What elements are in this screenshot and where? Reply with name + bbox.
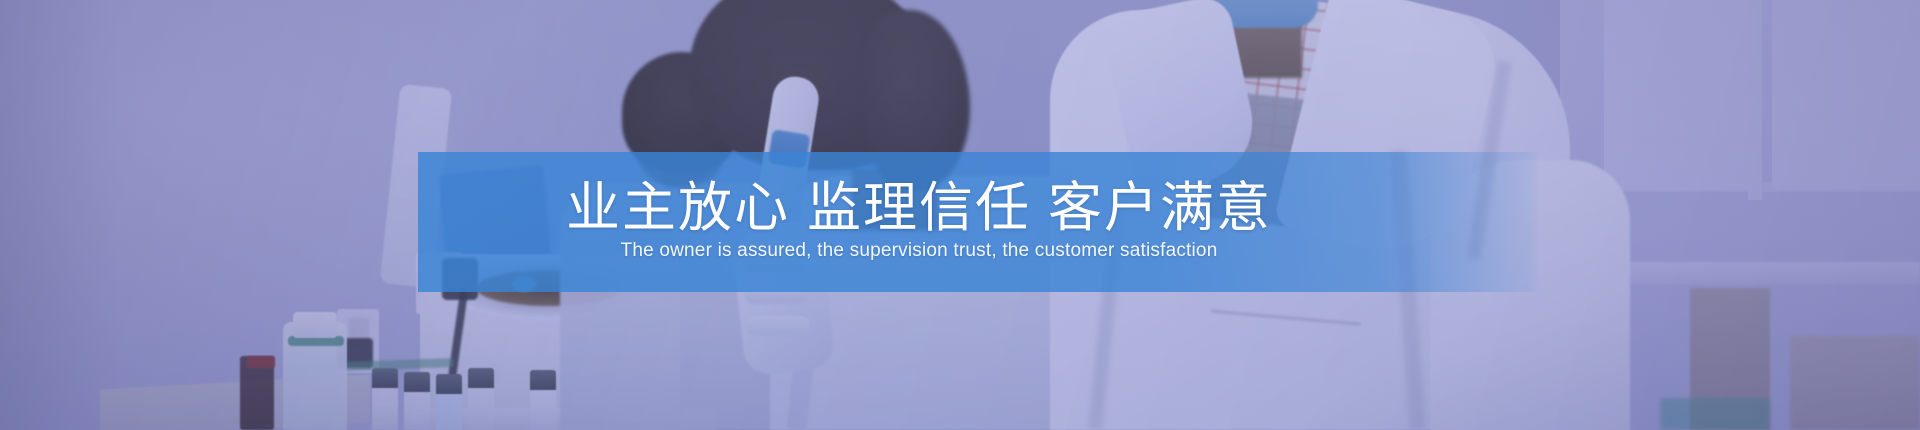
slogan-band: 业主放心 监理信任 客户满意 The owner is assured, the…	[418, 152, 1540, 292]
hero-banner: 业主放心 监理信任 客户满意 The owner is assured, the…	[0, 0, 1920, 430]
slogan-band-content: 业主放心 监理信任 客户满意 The owner is assured, the…	[418, 152, 1540, 292]
banner-headline: 业主放心 监理信任 客户满意	[566, 181, 1272, 236]
banner-subheadline: The owner is assured, the supervision tr…	[621, 240, 1218, 263]
